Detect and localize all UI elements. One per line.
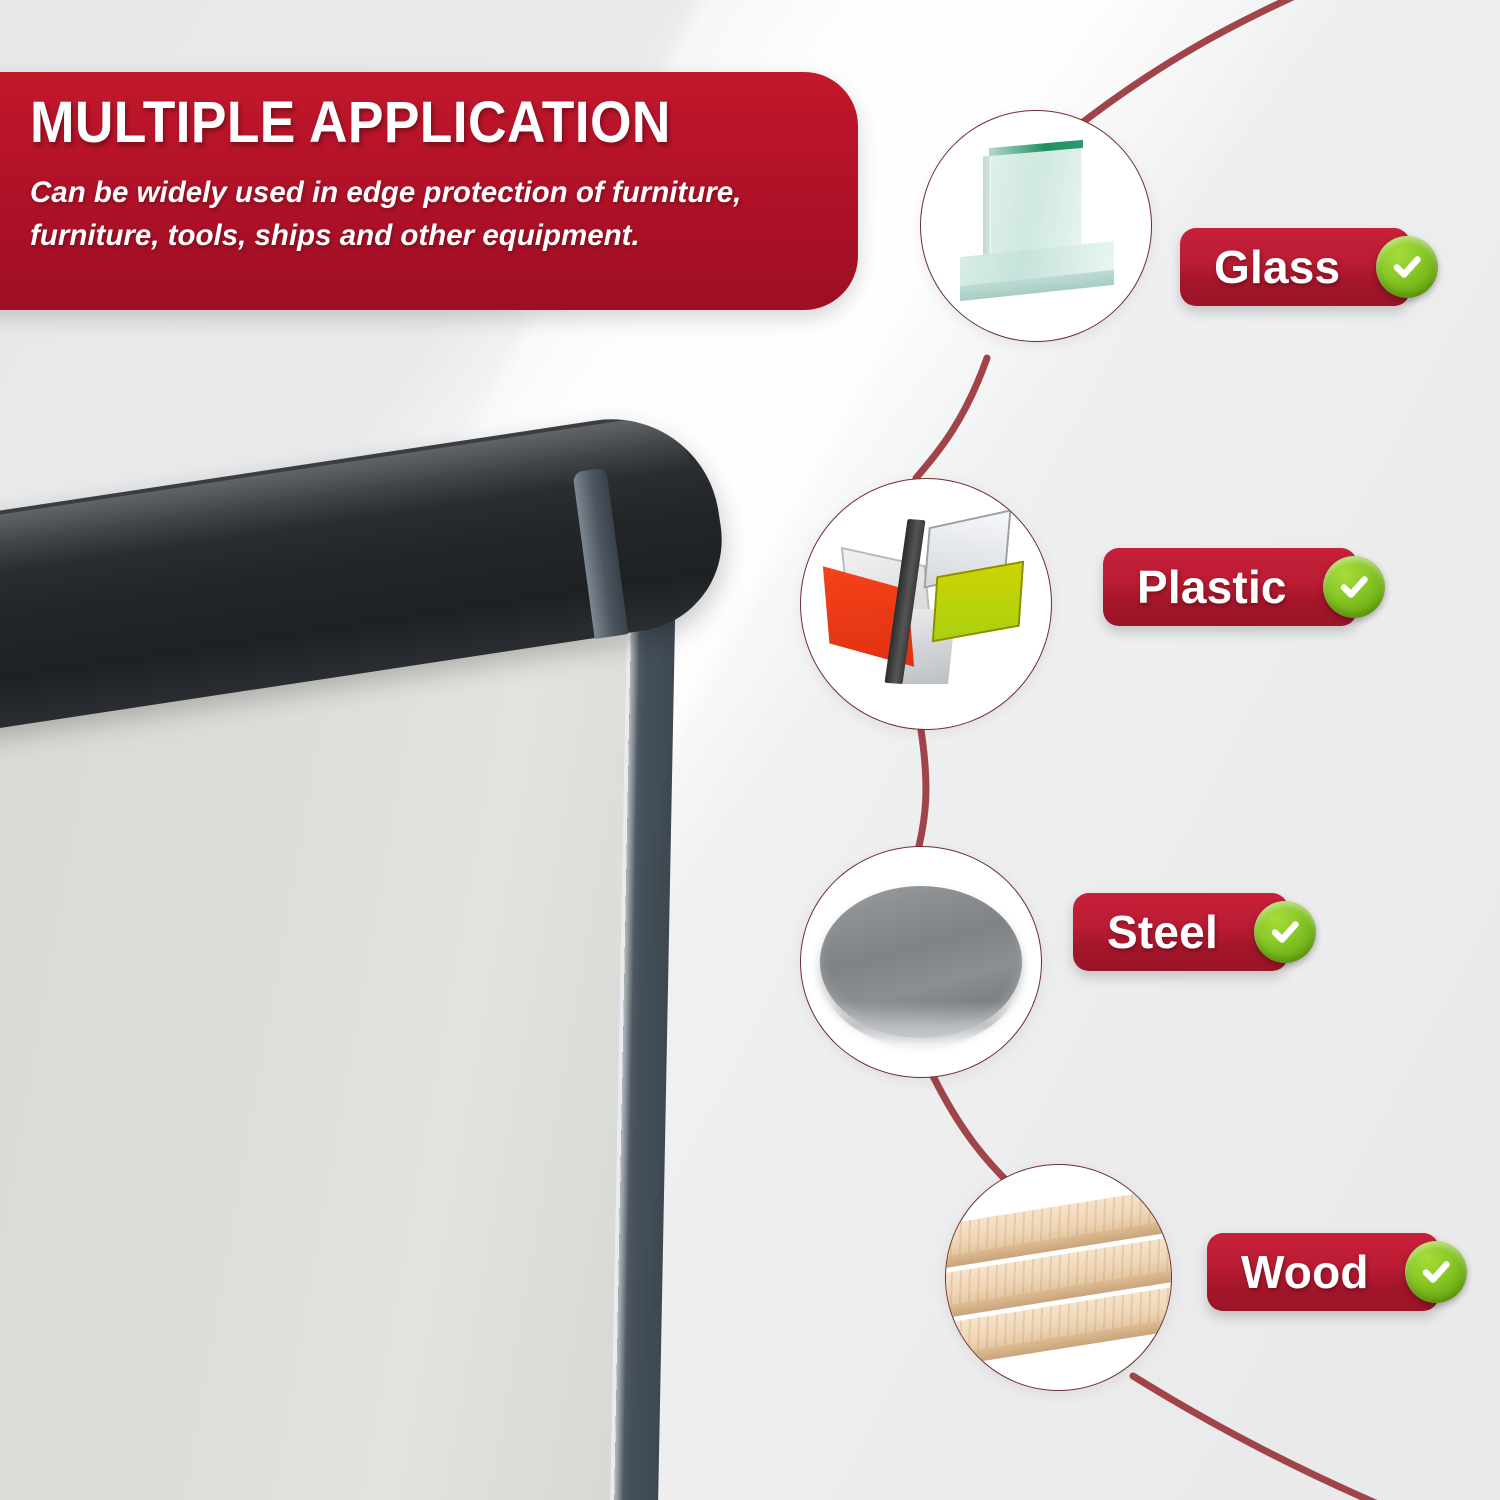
material-image-plastic	[800, 478, 1052, 730]
material-label-plastic-text: Plastic	[1137, 564, 1287, 610]
connector-plastic-steel	[919, 730, 926, 846]
material-image-glass	[920, 110, 1152, 342]
infographic-canvas: Glass Plastic Steel Wood	[0, 0, 1500, 1500]
connector-wood-bottom	[1133, 1376, 1380, 1500]
material-label-wood-text: Wood	[1241, 1249, 1369, 1295]
page-title: MULTIPLE APPLICATION	[30, 94, 766, 152]
check-mark-icon	[1323, 556, 1385, 618]
glass-panes-photo	[921, 111, 1151, 341]
wood-planks-photo	[946, 1165, 1171, 1390]
material-image-wood	[945, 1164, 1172, 1391]
connector-glass-plastic	[916, 358, 987, 478]
steel-disc-rim	[820, 895, 1022, 1047]
banner-description: Can be widely used in edge protection of…	[30, 172, 830, 258]
material-label-steel[interactable]: Steel	[1073, 893, 1288, 971]
material-label-glass-text: Glass	[1214, 244, 1340, 290]
material-label-wood[interactable]: Wood	[1207, 1233, 1439, 1311]
material-label-plastic[interactable]: Plastic	[1103, 548, 1357, 626]
material-label-glass[interactable]: Glass	[1180, 228, 1410, 306]
steel-disc-photo	[801, 847, 1041, 1077]
check-mark-icon	[1254, 901, 1316, 963]
material-label-steel-text: Steel	[1107, 909, 1218, 955]
acrylic-sheets-photo	[801, 479, 1051, 729]
headline-banner: MULTIPLE APPLICATION Can be widely used …	[0, 72, 858, 310]
check-mark-icon	[1376, 236, 1438, 298]
check-mark-icon	[1405, 1241, 1467, 1303]
product-illustration	[0, 370, 740, 1500]
material-image-steel	[800, 846, 1042, 1078]
